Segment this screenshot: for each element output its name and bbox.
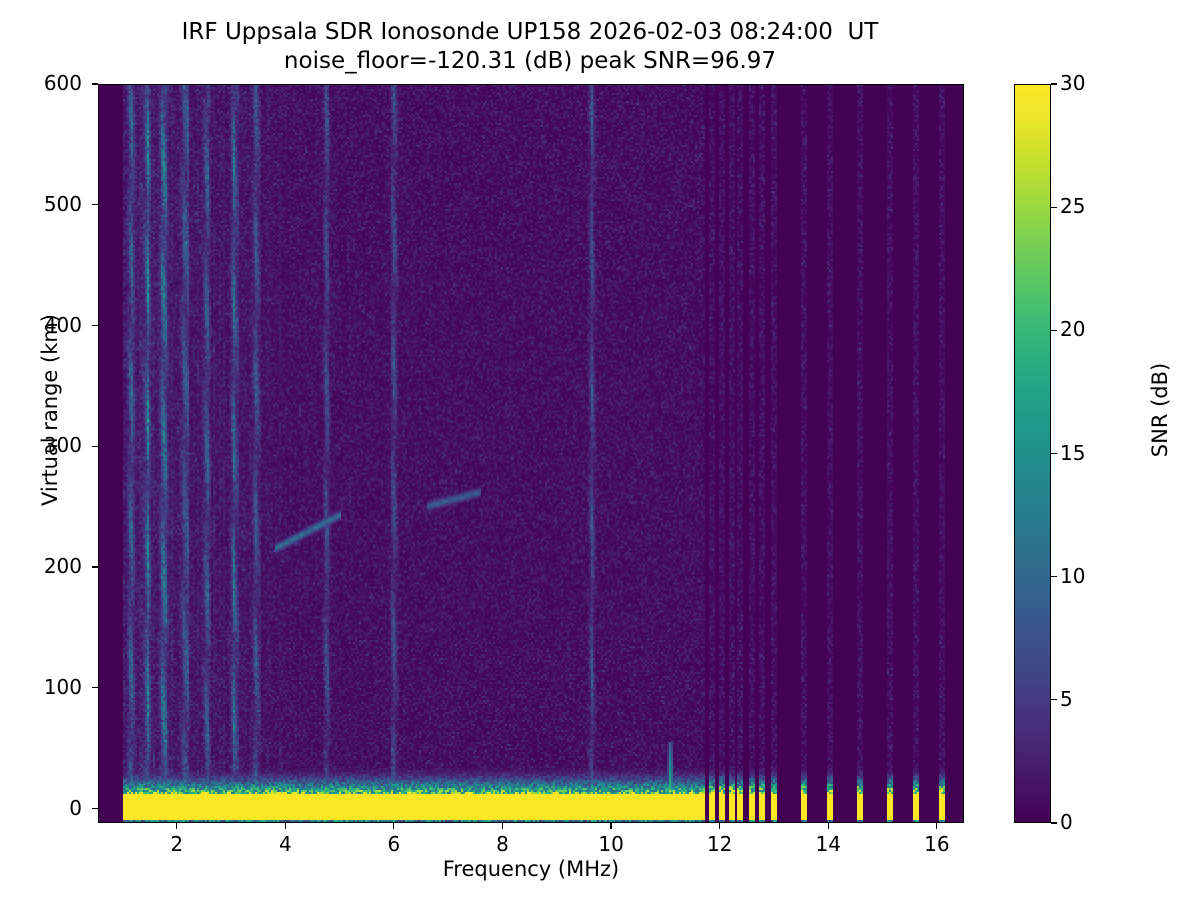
y-tick-mark	[92, 204, 98, 205]
x-tick-mark	[610, 823, 611, 829]
colorbar-tick-label: 5	[1060, 687, 1073, 711]
x-tick-label: 14	[798, 832, 858, 856]
x-tick-label: 6	[364, 832, 424, 856]
y-tick-label: 100	[44, 675, 82, 699]
colorbar-tick-mark	[1051, 699, 1057, 700]
y-tick-label: 0	[69, 796, 82, 820]
x-tick-mark	[936, 823, 937, 829]
y-axis-label: Virtual range (km)	[38, 250, 62, 570]
y-tick-mark	[92, 446, 98, 447]
y-tick-label: 500	[44, 192, 82, 216]
colorbar-tick-mark	[1051, 576, 1057, 577]
y-tick-mark	[92, 325, 98, 326]
figure-title: IRF Uppsala SDR Ionosonde UP158 2026-02-…	[0, 18, 1060, 76]
colorbar-gradient	[1015, 85, 1050, 822]
x-tick-label: 2	[147, 832, 207, 856]
x-tick-mark	[393, 823, 394, 829]
x-tick-mark	[176, 823, 177, 829]
colorbar-tick-label: 20	[1060, 317, 1085, 341]
y-tick-mark	[92, 687, 98, 688]
x-tick-label: 16	[907, 832, 967, 856]
colorbar-tick-label: 10	[1060, 564, 1085, 588]
colorbar-tick-mark	[1051, 453, 1057, 454]
colorbar[interactable]	[1014, 84, 1051, 823]
colorbar-tick-label: 0	[1060, 810, 1073, 834]
y-tick-mark	[92, 808, 98, 809]
colorbar-tick-label: 15	[1060, 441, 1085, 465]
title-line-2: noise_floor=-120.31 (dB) peak SNR=96.97	[0, 47, 1060, 76]
colorbar-tick-label: 25	[1060, 194, 1085, 218]
x-tick-mark	[719, 823, 720, 829]
colorbar-tick-mark	[1051, 207, 1057, 208]
x-tick-mark	[828, 823, 829, 829]
colorbar-tick-mark	[1051, 330, 1057, 331]
colorbar-tick-mark	[1051, 822, 1057, 823]
x-tick-label: 12	[690, 832, 750, 856]
y-tick-mark	[92, 83, 98, 84]
y-tick-label: 600	[44, 71, 82, 95]
x-tick-mark	[502, 823, 503, 829]
title-line-1: IRF Uppsala SDR Ionosonde UP158 2026-02-…	[0, 18, 1060, 47]
x-axis-label: Frequency (MHz)	[98, 857, 964, 881]
ionogram-plot-area[interactable]	[98, 84, 964, 823]
colorbar-label: SNR (dB)	[1148, 250, 1172, 570]
x-tick-label: 4	[255, 832, 315, 856]
colorbar-tick-label: 30	[1060, 71, 1085, 95]
y-tick-mark	[92, 566, 98, 567]
ionogram-figure: IRF Uppsala SDR Ionosonde UP158 2026-02-…	[0, 0, 1200, 900]
x-tick-mark	[285, 823, 286, 829]
ionogram-heatmap	[99, 85, 963, 822]
x-tick-label: 8	[472, 832, 532, 856]
x-tick-label: 10	[581, 832, 641, 856]
colorbar-tick-mark	[1051, 83, 1057, 84]
